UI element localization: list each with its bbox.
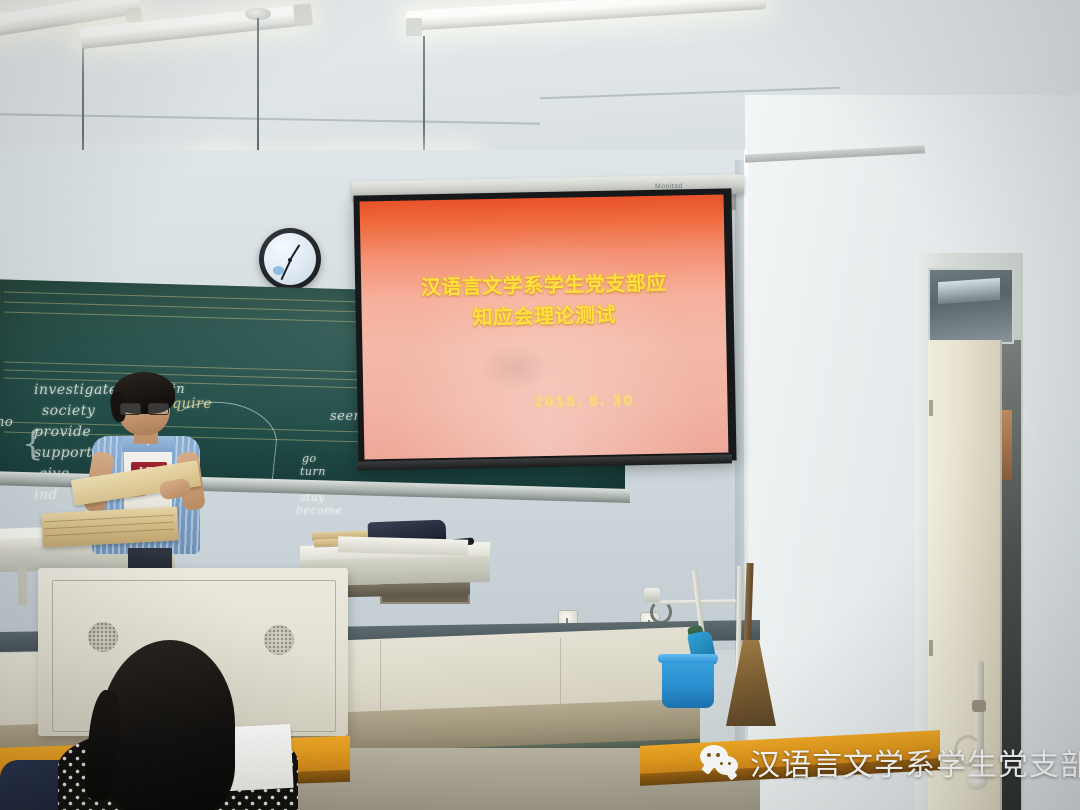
speaker-grille [264, 625, 294, 655]
screen-smudge [480, 344, 551, 391]
blackboard-word: support [34, 445, 92, 461]
blackboard-word: ind [34, 487, 58, 503]
blackboard-word: go [302, 452, 317, 465]
bubble-eye [707, 753, 711, 757]
transom-glare [938, 278, 1000, 304]
clock-face [264, 233, 316, 285]
light-end-cap [293, 3, 313, 27]
classroom-photo: { investigate society provide support gi… [0, 0, 1080, 810]
watermark-text: 汉语言文学系学生党支部 [750, 740, 1080, 784]
clock-center [288, 258, 292, 262]
light-suspension-wire [257, 18, 259, 164]
slide-title: 汉语言文学系学生党支部应 知应会理论测试 [361, 267, 726, 336]
teacher-glasses [120, 403, 168, 413]
student-hair [100, 640, 235, 810]
bubble-eye [720, 762, 723, 765]
door-latch[interactable] [972, 700, 986, 712]
paper-on-desk [0, 527, 48, 539]
wall-clock [259, 228, 321, 290]
desk-leg [18, 565, 27, 605]
bubble-eye [716, 753, 720, 757]
bubble-eye [728, 762, 731, 765]
glasses-lens [120, 403, 141, 415]
light-suspension-wire [423, 36, 425, 166]
speaker-grille [88, 622, 118, 652]
wechat-watermark: 汉语言文学系学生党支部 [700, 740, 1080, 784]
wechat-bubble-small [715, 756, 738, 775]
door-hinge [929, 400, 933, 416]
clock-sub-dial [273, 266, 284, 275]
blackboard-word: no [0, 415, 13, 430]
mop-bucket [662, 658, 714, 708]
glasses-lens [148, 403, 169, 415]
right-wall [745, 95, 1080, 810]
blackboard-word: turn [300, 465, 326, 478]
door-hinge [929, 640, 933, 656]
blackboard-word: society [42, 403, 95, 419]
wechat-logo-icon [700, 745, 740, 779]
blackboard-word: investigate [34, 382, 118, 398]
bucket-rim [658, 654, 718, 663]
desk-tablet-arm [338, 536, 468, 555]
blackboard-word: provide [34, 424, 91, 440]
light-end-cap [406, 18, 422, 36]
tile-seam [380, 640, 381, 720]
blackboard-word: become [296, 504, 342, 517]
